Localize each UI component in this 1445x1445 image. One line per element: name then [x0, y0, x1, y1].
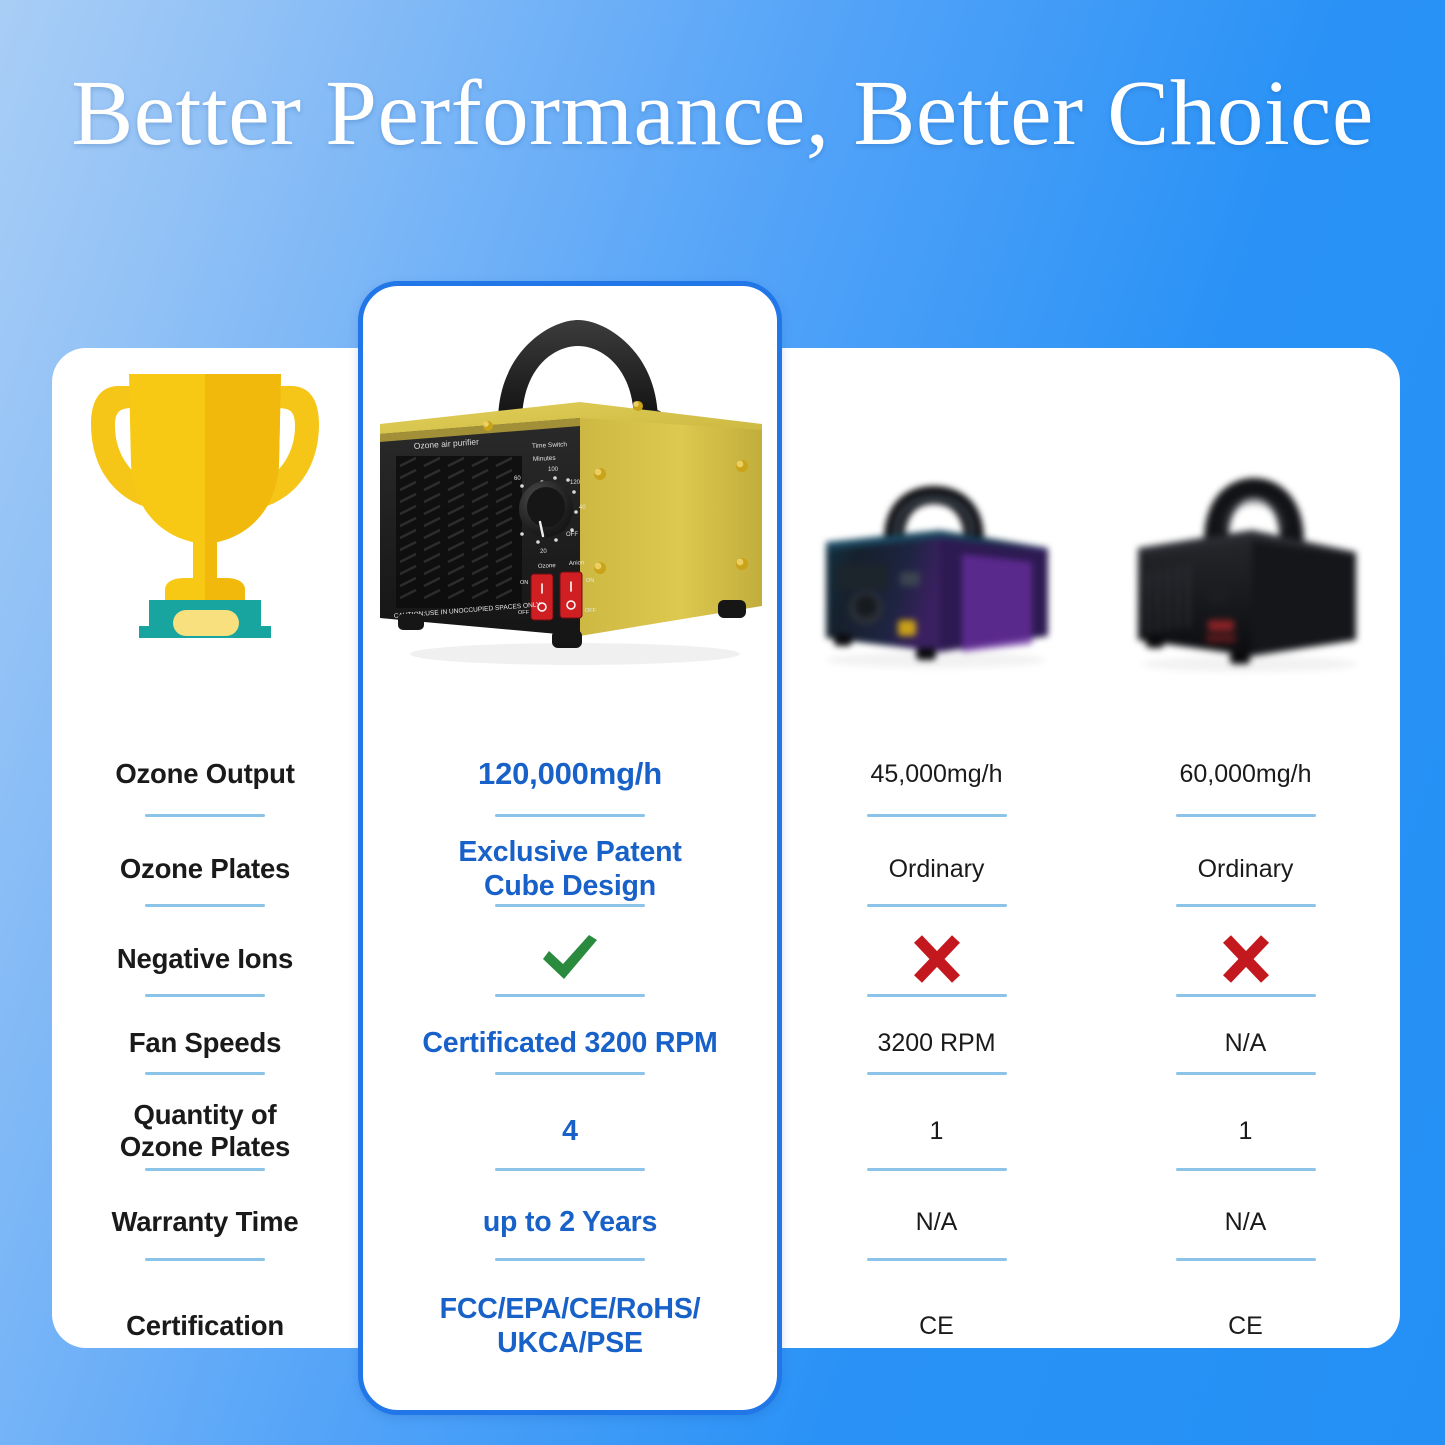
feature-label-cell: Warranty Time [52, 1188, 358, 1256]
trophy-icon [89, 368, 321, 643]
row-separator [1176, 814, 1316, 817]
check-icon [539, 933, 601, 985]
svg-text:Ozone: Ozone [538, 563, 557, 570]
row-separator [145, 994, 265, 997]
featured-value-cell: Exclusive PatentCube Design [358, 830, 782, 908]
row-separator [495, 814, 645, 817]
competitor-2-image-cell [1091, 348, 1400, 718]
competitor-value-cell [782, 920, 1091, 998]
row-separator [1176, 1258, 1316, 1261]
svg-text:Anion: Anion [569, 560, 585, 567]
row-separator [495, 904, 645, 907]
row-separator [867, 1168, 1007, 1171]
feature-label-column: Ozone OutputOzone PlatesNegative IonsFan… [52, 348, 358, 1348]
competitor-1-product-image [812, 468, 1062, 683]
svg-text:OFF: OFF [566, 532, 578, 538]
comparison-grid: Ozone OutputOzone PlatesNegative IonsFan… [52, 348, 1400, 1348]
competitor-value-cell: N/A [1091, 1188, 1400, 1256]
featured-product-column: Ozone air purifier Time Switch Minutes 6… [358, 348, 782, 1348]
svg-text:40: 40 [579, 505, 586, 511]
competitor-value-cell: 45,000mg/h [782, 740, 1091, 808]
row-separator [1176, 1072, 1316, 1075]
page-header: Better Performance, Better Choice [0, 58, 1445, 168]
page-title: Better Performance, Better Choice [71, 60, 1373, 167]
feature-label-cell: Quantity ofOzone Plates [52, 1085, 358, 1177]
svg-text:ON: ON [520, 580, 528, 586]
feature-label-cell: Fan Speeds [52, 1010, 358, 1076]
row-separator [145, 1072, 265, 1075]
featured-value-cell: up to 2 Years [358, 1188, 782, 1256]
row-separator [145, 1258, 265, 1261]
svg-text:ON: ON [586, 578, 594, 584]
competitor-value-cell: CE [782, 1278, 1091, 1374]
competitor-value-cell: Ordinary [782, 830, 1091, 908]
competitor-value-cell: Ordinary [1091, 830, 1400, 908]
row-separator [145, 1168, 265, 1171]
competitor-2-column: 60,000mg/hOrdinaryN/A1N/ACE [1091, 348, 1400, 1348]
row-separator [867, 1258, 1007, 1261]
trophy-header-cell [52, 348, 358, 718]
row-separator [495, 994, 645, 997]
featured-value-cell: 120,000mg/h [358, 740, 782, 808]
svg-text:60: 60 [514, 476, 521, 482]
row-separator [867, 994, 1007, 997]
row-separator [1176, 904, 1316, 907]
row-separator [145, 904, 265, 907]
row-separator [1176, 1168, 1316, 1171]
competitor-value-cell: 3200 RPM [782, 1010, 1091, 1076]
cross-icon [1221, 934, 1271, 984]
competitor-value-cell: N/A [782, 1188, 1091, 1256]
feature-label-cell: Ozone Output [52, 740, 358, 808]
competitor-value-cell: 60,000mg/h [1091, 740, 1400, 808]
feature-label-cell: Negative Ions [52, 920, 358, 998]
svg-text:100: 100 [548, 467, 559, 473]
row-separator [495, 1258, 645, 1261]
competitor-1-column: 45,000mg/hOrdinary3200 RPM1N/ACE [782, 348, 1091, 1348]
row-separator [495, 1072, 645, 1075]
row-separator [145, 814, 265, 817]
featured-value-cell [358, 920, 782, 998]
competitor-value-cell [1091, 920, 1400, 998]
svg-text:Minutes: Minutes [533, 455, 557, 463]
competitor-value-cell: 1 [1091, 1085, 1400, 1177]
featured-value-cell: 4 [358, 1085, 782, 1177]
row-separator [867, 904, 1007, 907]
svg-text:20: 20 [540, 549, 547, 555]
row-separator [495, 1168, 645, 1171]
featured-product-image-cell: Ozone air purifier Time Switch Minutes 6… [358, 348, 782, 718]
competitor-2-product-image [1126, 468, 1366, 683]
svg-text:120: 120 [570, 480, 581, 486]
feature-label-cell: Certification [52, 1278, 358, 1374]
competitor-1-image-cell [782, 348, 1091, 718]
row-separator [1176, 994, 1316, 997]
row-separator [867, 814, 1007, 817]
feature-label-cell: Ozone Plates [52, 830, 358, 908]
svg-text:OFF: OFF [518, 610, 530, 616]
cross-icon [912, 934, 962, 984]
competitor-value-cell: CE [1091, 1278, 1400, 1374]
featured-value-cell: FCC/EPA/CE/RoHS/UKCA/PSE [358, 1278, 782, 1374]
featured-value-cell: Certificated 3200 RPM [358, 1010, 782, 1076]
competitor-value-cell: 1 [782, 1085, 1091, 1177]
competitor-value-cell: N/A [1091, 1010, 1400, 1076]
row-separator [867, 1072, 1007, 1075]
ozone-air-purifier-image: Ozone air purifier Time Switch Minutes 6… [370, 306, 770, 701]
svg-text:OFF: OFF [585, 608, 597, 614]
